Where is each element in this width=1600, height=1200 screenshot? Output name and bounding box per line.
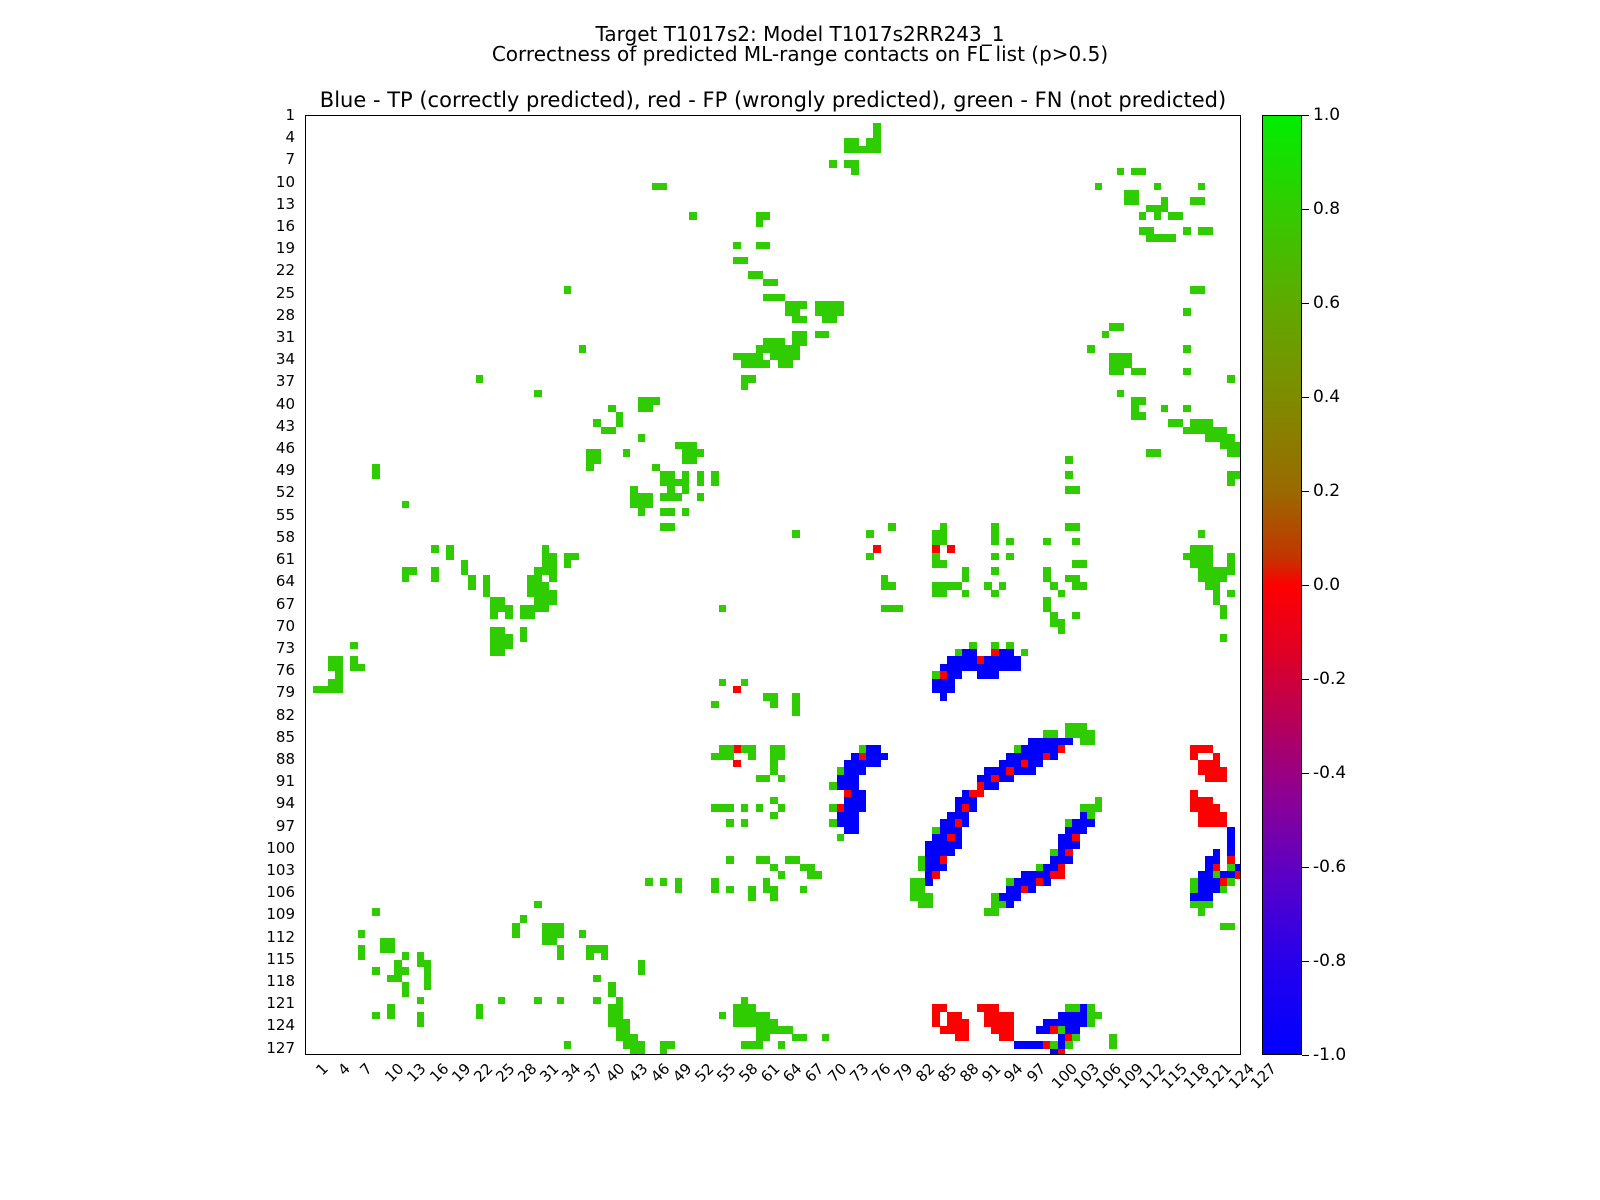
contact-cell-fn: [313, 686, 321, 694]
y-tick: [305, 590, 306, 591]
contact-cell-tp: [1080, 827, 1088, 835]
contact-cell-tp: [1058, 1041, 1066, 1049]
contact-cell-fn: [358, 930, 366, 938]
y-tick: [305, 553, 306, 554]
contact-cell-fn: [1131, 368, 1139, 376]
contact-cell-fn: [940, 530, 948, 538]
y-tick: [305, 708, 306, 709]
contact-cell-fn: [645, 405, 653, 413]
contact-cell-tp: [1021, 767, 1029, 775]
contact-cell-tp: [1065, 834, 1073, 842]
contact-cell-fn: [756, 360, 764, 368]
x-tick-label: 97: [1024, 1061, 1048, 1085]
y-tick: [305, 819, 306, 820]
contact-cell-tp: [947, 671, 955, 679]
contact-cell-fn: [1198, 183, 1206, 191]
contact-cell-fn: [940, 538, 948, 546]
contact-cell-fn: [1043, 605, 1051, 613]
contact-cell-fn: [682, 508, 690, 516]
contact-cell-fn: [1227, 878, 1235, 886]
contact-cell-fn: [1065, 471, 1073, 479]
contact-cell-fn: [682, 442, 690, 450]
colorbar-tick-label: 1.0: [1313, 107, 1340, 124]
y-tick-label: 25: [276, 286, 295, 301]
contact-cell-tp: [977, 664, 985, 672]
contact-cell-fn: [402, 967, 410, 975]
contact-cell-fn: [770, 864, 778, 872]
contact-cell-tp: [955, 834, 963, 842]
contact-cell-fn: [763, 886, 771, 894]
contact-cell-fn: [660, 479, 668, 487]
y-tick-label: 43: [276, 419, 295, 434]
contact-cell-fn: [837, 767, 845, 775]
contact-cell-fn: [962, 590, 970, 598]
contact-cell-fp: [1043, 1041, 1051, 1049]
contact-cell-fp: [1205, 767, 1213, 775]
contact-cell-fn: [881, 575, 889, 583]
contact-cell-fn: [770, 1019, 778, 1027]
colorbar-tick-label: 0.2: [1313, 483, 1340, 500]
contact-cell-fp: [991, 1026, 999, 1034]
contact-cell-fn: [1227, 567, 1235, 575]
contact-cell-fn: [593, 456, 601, 464]
contact-cell-tp: [1043, 871, 1051, 879]
contact-cell-fn: [778, 353, 786, 361]
contact-cell-fn: [667, 486, 675, 494]
colorbar-tick: [1302, 115, 1309, 116]
contact-cell-fn: [1006, 553, 1014, 561]
contact-cell-fn: [1072, 523, 1080, 531]
contact-cell-fn: [785, 353, 793, 361]
contact-cell-fn: [1117, 323, 1125, 331]
contact-cell-fn: [638, 508, 646, 516]
contact-cell-fn: [1205, 227, 1213, 235]
contact-cell-fp: [991, 1012, 999, 1020]
y-tick: [305, 175, 306, 176]
contact-cell-fn: [542, 923, 550, 931]
y-tick: [305, 220, 306, 221]
colorbar-tick-label: -0.4: [1313, 765, 1346, 782]
y-tick: [305, 856, 306, 857]
contact-cell-fn: [549, 553, 557, 561]
y-tick: [305, 893, 306, 894]
contact-cell-fn: [1227, 471, 1235, 479]
contact-cell-fn: [1087, 1019, 1095, 1027]
contact-cell-tp: [1205, 864, 1213, 872]
colorbar-tick-label: 0.4: [1313, 389, 1340, 406]
contact-cell-tp: [1043, 878, 1051, 886]
contact-cell-fn: [873, 146, 881, 154]
contact-cell-fn: [1146, 227, 1154, 235]
contact-cell-fn: [1065, 723, 1073, 731]
contact-cell-fn: [837, 301, 845, 309]
contact-cell-tp: [962, 819, 970, 827]
contact-cell-tp: [999, 664, 1007, 672]
y-tick: [305, 923, 306, 924]
contact-cell-fn: [557, 952, 565, 960]
contact-cell-fn: [763, 775, 771, 783]
contact-cell-fp: [1220, 819, 1228, 827]
contact-cell-fn: [557, 930, 565, 938]
contact-cell-fn: [468, 575, 476, 583]
contact-cell-fn: [991, 538, 999, 546]
contact-cell-fn: [726, 804, 734, 812]
y-tick-label: 40: [276, 397, 295, 412]
contact-cell-fn: [1227, 442, 1235, 450]
contact-cell-fn: [387, 1012, 395, 1020]
contact-cell-tp: [1021, 745, 1029, 753]
contact-cell-fn: [1139, 168, 1147, 176]
colorbar-tick-label: 0.6: [1313, 295, 1340, 312]
contact-cell-fn: [682, 471, 690, 479]
contact-cell-fn: [1006, 642, 1014, 650]
contact-cell-fn: [719, 1012, 727, 1020]
contact-cell-fn: [402, 567, 410, 575]
contact-cell-fn: [918, 864, 926, 872]
contact-cell-tp: [940, 686, 948, 694]
colorbar-gradient: [1262, 115, 1302, 1055]
contact-cell-fn: [741, 1012, 749, 1020]
contact-map-plot[interactable]: [305, 115, 1241, 1055]
contact-cell-fn: [1205, 567, 1213, 575]
y-tick: [305, 412, 306, 413]
contact-cell-fn: [719, 753, 727, 761]
contact-cell-fn: [586, 464, 594, 472]
contact-cell-fn: [741, 382, 749, 390]
contact-cell-fn: [1109, 353, 1117, 361]
contact-cell-tp: [1205, 871, 1213, 879]
contact-cell-fn: [1205, 575, 1213, 583]
contact-cell-fn: [623, 449, 631, 457]
contact-cell-tp: [1043, 864, 1051, 872]
contact-cell-fn: [608, 427, 616, 435]
contact-cell-fn: [1213, 871, 1221, 879]
contact-cell-fn: [424, 982, 432, 990]
contact-cell-fn: [1176, 212, 1184, 220]
contact-cell-fn: [940, 523, 948, 531]
contact-cell-fn: [586, 952, 594, 960]
contact-cell-fn: [372, 471, 380, 479]
contact-cell-fn: [763, 212, 771, 220]
y-tick-label: 13: [276, 197, 295, 212]
y-tick: [305, 434, 306, 435]
contact-cell-fn: [1183, 345, 1191, 353]
contact-cell-tp: [1065, 1012, 1073, 1020]
colorbar-tick: [1302, 303, 1309, 304]
contact-cell-tp: [999, 893, 1007, 901]
contact-cell-fn: [608, 989, 616, 997]
contact-cell-fn: [534, 997, 542, 1005]
y-tick: [305, 456, 306, 457]
contact-cell-tp: [1006, 901, 1014, 909]
contact-cell-fn: [792, 353, 800, 361]
contact-cell-tp: [1028, 886, 1036, 894]
contact-cell-fn: [571, 553, 579, 561]
contact-cell-tp: [844, 782, 852, 790]
contact-cell-fp: [1006, 1019, 1014, 1027]
contact-cell-fn: [1198, 530, 1206, 538]
contact-cell-tp: [962, 649, 970, 657]
y-tick-label: 34: [276, 352, 295, 367]
contact-cell-tp: [859, 797, 867, 805]
y-tick: [305, 442, 306, 443]
contact-cell-fn: [557, 923, 565, 931]
contact-cell-fp: [999, 1012, 1007, 1020]
y-tick: [305, 745, 306, 746]
y-tick: [305, 597, 306, 598]
contact-cell-tp: [873, 745, 881, 753]
contact-cell-fn: [358, 945, 366, 953]
contact-cell-tp: [1036, 760, 1044, 768]
contact-cell-fn: [645, 501, 653, 509]
y-tick: [305, 397, 306, 398]
contact-cell-fn: [940, 590, 948, 598]
y-tick-label: 70: [276, 619, 295, 634]
contact-cell-fn: [888, 523, 896, 531]
contact-cell-fp: [977, 1004, 985, 1012]
contact-cell-tp: [851, 827, 859, 835]
contact-cell-fn: [1139, 212, 1147, 220]
contact-cell-fn: [866, 553, 874, 561]
contact-cell-fn: [667, 493, 675, 501]
contact-cell-fn: [645, 397, 653, 405]
y-tick: [305, 1049, 306, 1050]
contact-cell-fn: [1131, 412, 1139, 420]
contact-cell-fn: [1154, 212, 1162, 220]
contact-cell-tp: [1058, 1019, 1066, 1027]
contact-cell-fn: [756, 271, 764, 279]
contact-cell-fn: [1080, 560, 1088, 568]
contact-map-figure: Target T1017s2: Model T1017s2RR243_1 Cor…: [0, 0, 1600, 1200]
contact-cell-fp: [1021, 760, 1029, 768]
colorbar-tick-label: -0.8: [1313, 953, 1346, 970]
contact-cell-fn: [682, 449, 690, 457]
y-tick: [305, 212, 306, 213]
contact-cell-fn: [675, 886, 683, 894]
contact-cell-fn: [417, 1012, 425, 1020]
y-tick-label: 52: [276, 485, 295, 500]
contact-cell-fn: [829, 804, 837, 812]
contact-cell-fn: [387, 945, 395, 953]
contact-cell-fp: [940, 1004, 948, 1012]
y-tick: [305, 427, 306, 428]
contact-cell-fp: [1205, 760, 1213, 768]
contact-cell-fn: [733, 1019, 741, 1027]
contact-cell-fn: [932, 538, 940, 546]
contact-cell-fn: [807, 871, 815, 879]
y-tick-label: 124: [266, 1018, 295, 1033]
contact-cell-fn: [638, 967, 646, 975]
contact-cell-fp: [947, 1012, 955, 1020]
contact-cell-fn: [697, 479, 705, 487]
contact-cell-tp: [1043, 745, 1051, 753]
contact-cell-fn: [829, 316, 837, 324]
y-tick: [305, 375, 306, 376]
contact-cell-fn: [785, 301, 793, 309]
contact-cell-fn: [1095, 804, 1103, 812]
contact-cell-fn: [660, 493, 668, 501]
contact-cell-fn: [1227, 375, 1235, 383]
contact-cell-fn: [748, 375, 756, 383]
contact-cell-fn: [505, 612, 513, 620]
contact-cell-fn: [1131, 197, 1139, 205]
x-tick-label: 4: [336, 1061, 353, 1078]
contact-cell-tp: [1213, 886, 1221, 894]
y-tick: [305, 797, 306, 798]
contact-cell-fp: [947, 1026, 955, 1034]
y-tick: [305, 878, 306, 879]
contact-cell-fn: [785, 360, 793, 368]
contact-cell-fn: [1154, 183, 1162, 191]
y-tick: [305, 464, 306, 465]
contact-cell-fp: [1198, 819, 1206, 827]
contact-cell-fn: [409, 567, 417, 575]
contact-cell-fn: [675, 493, 683, 501]
contact-cell-fn: [1213, 590, 1221, 598]
contact-cell-fp: [1198, 812, 1206, 820]
contact-cell-tp: [940, 849, 948, 857]
contact-cell-fn: [667, 523, 675, 531]
y-tick: [305, 827, 306, 828]
contact-cell-fn: [741, 1041, 749, 1049]
contact-cell-fn: [542, 590, 550, 598]
contact-cell-tp: [1080, 812, 1088, 820]
contact-cell-fn: [792, 693, 800, 701]
y-tick: [305, 1012, 306, 1013]
contact-cell-fn: [476, 1004, 484, 1012]
contact-cell-fn: [1154, 205, 1162, 213]
colorbar-tick-label: 0.0: [1313, 577, 1340, 594]
y-tick: [305, 1019, 306, 1020]
contact-cell-fn: [608, 982, 616, 990]
contact-cell-fn: [1220, 923, 1228, 931]
contact-cell-fn: [792, 701, 800, 709]
y-tick: [305, 767, 306, 768]
contact-cell-fn: [446, 553, 454, 561]
y-tick: [305, 257, 306, 258]
y-tick: [305, 168, 306, 169]
contact-cell-fn: [1220, 634, 1228, 642]
y-tick: [305, 701, 306, 702]
contact-cell-fn: [564, 1041, 572, 1049]
contact-cell-fn: [1198, 553, 1206, 561]
contact-cell-tp: [1058, 841, 1066, 849]
contact-cell-tp: [1050, 753, 1058, 761]
contact-cell-fn: [608, 405, 616, 413]
y-tick-label: 58: [276, 530, 295, 545]
contact-cell-tp: [837, 782, 845, 790]
y-tick-label: 118: [266, 974, 295, 989]
contact-cell-fn: [660, 523, 668, 531]
contact-cell-fn: [667, 1041, 675, 1049]
contact-cell-fn: [675, 479, 683, 487]
y-tick-label: 100: [266, 841, 295, 856]
contact-cell-fn: [756, 353, 764, 361]
contact-cell-fn: [1154, 449, 1162, 457]
y-tick: [305, 345, 306, 346]
contact-cell-fn: [719, 605, 727, 613]
colorbar-tick-label: 0.8: [1313, 201, 1340, 218]
contact-cell-fp: [932, 871, 940, 879]
contact-cell-fp: [1198, 760, 1206, 768]
y-tick: [305, 271, 306, 272]
contact-cell-fn: [549, 597, 557, 605]
contact-cell-fn: [969, 642, 977, 650]
contact-cell-fp: [1058, 871, 1066, 879]
contact-cell-fn: [682, 486, 690, 494]
contact-cell-tp: [1058, 1012, 1066, 1020]
x-tick-label: 7: [358, 1061, 375, 1078]
contact-cell-fn: [697, 493, 705, 501]
contact-cell-fn: [763, 1012, 771, 1020]
contact-cell-fn: [372, 967, 380, 975]
contact-cell-tp: [1235, 864, 1241, 872]
y-tick-label: 97: [276, 819, 295, 834]
contact-cell-fn: [1080, 582, 1088, 590]
contact-cell-fn: [380, 938, 388, 946]
contact-cell-fp: [977, 790, 985, 798]
contact-cell-fn: [1220, 575, 1228, 583]
contact-cell-fn: [770, 760, 778, 768]
contact-cell-fn: [1139, 227, 1147, 235]
contact-cell-fn: [991, 642, 999, 650]
y-tick: [305, 908, 306, 909]
contact-cell-fn: [1235, 442, 1241, 450]
contact-cell-fn: [1205, 427, 1213, 435]
contact-cell-fn: [1043, 567, 1051, 575]
y-tick: [305, 131, 306, 132]
contact-cell-fn: [962, 575, 970, 583]
x-tick-label: 1: [314, 1061, 331, 1078]
contact-cell-fn: [763, 294, 771, 302]
contact-cell-fn: [468, 582, 476, 590]
contact-cell-fn: [756, 1041, 764, 1049]
y-tick: [305, 146, 306, 147]
contact-cell-fn: [962, 567, 970, 575]
contact-cell-tp: [1043, 1026, 1051, 1034]
contact-cell-fn: [431, 567, 439, 575]
contact-cell-fn: [1058, 1026, 1066, 1034]
y-tick: [305, 234, 306, 235]
contact-cell-fn: [800, 864, 808, 872]
contact-cell-fn: [778, 745, 786, 753]
y-tick: [305, 338, 306, 339]
y-tick: [305, 619, 306, 620]
y-tick-label: 31: [276, 330, 295, 345]
contact-cell-fn: [991, 893, 999, 901]
contact-cell-fn: [689, 456, 697, 464]
contact-cell-tp: [1220, 871, 1228, 879]
contact-cell-fp: [1065, 849, 1073, 857]
contact-cell-fn: [593, 449, 601, 457]
contact-cell-fn: [549, 575, 557, 583]
contact-cell-fp: [733, 686, 741, 694]
contact-cell-fn: [431, 575, 439, 583]
y-tick: [305, 782, 306, 783]
contact-cell-fn: [1220, 427, 1228, 435]
contact-cell-fn: [601, 945, 609, 953]
y-tick: [305, 886, 306, 887]
contact-cell-fn: [350, 642, 358, 650]
contact-cell-fn: [616, 1034, 624, 1042]
contact-cell-fp: [999, 1019, 1007, 1027]
contact-cell-fp: [1006, 1012, 1014, 1020]
contact-cell-tp: [1014, 893, 1022, 901]
colorbar-tick: [1302, 491, 1309, 492]
y-tick: [305, 730, 306, 731]
contact-cell-fn: [1117, 368, 1125, 376]
contact-cell-fn: [446, 545, 454, 553]
